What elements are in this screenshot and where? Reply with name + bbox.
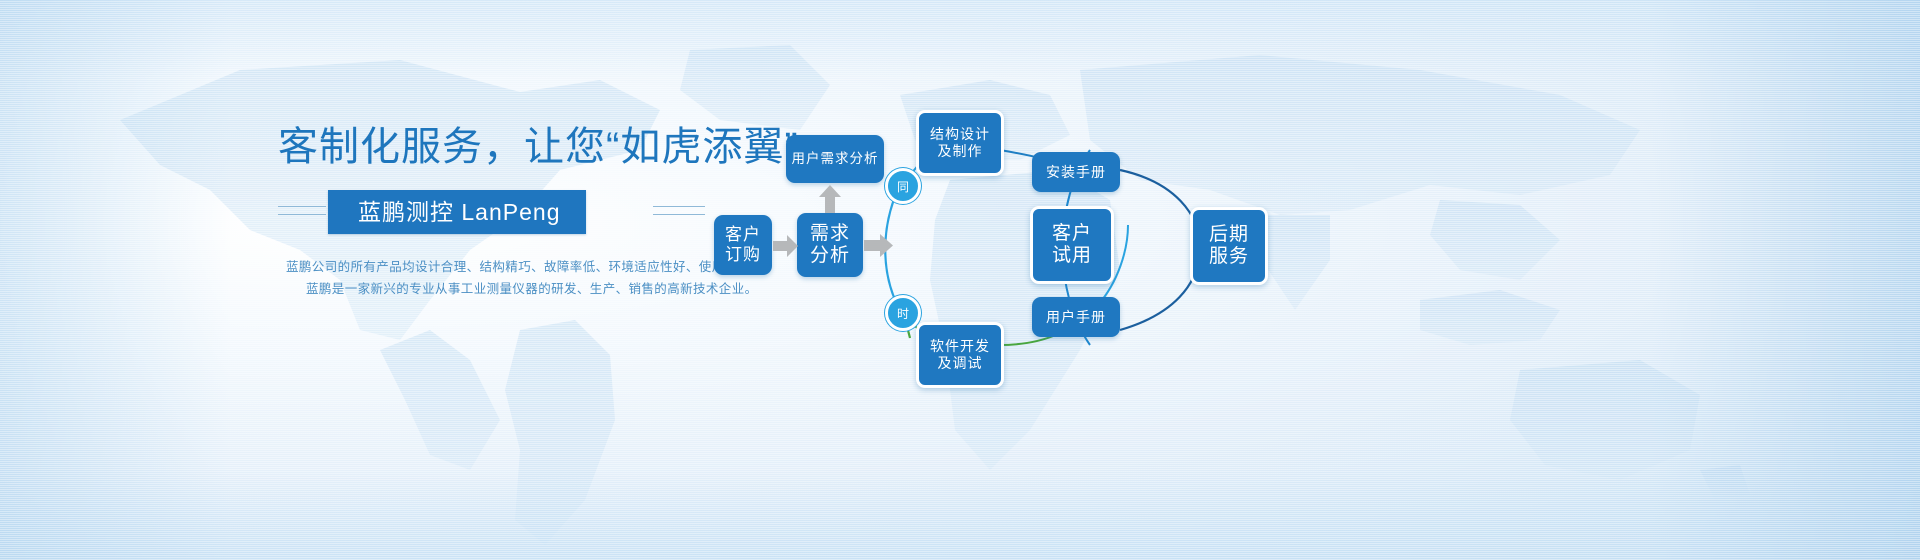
flow-node-software-dev[interactable]: 软件开发 及调试 [916, 322, 1004, 388]
badge-label: 时 [897, 305, 909, 322]
arrow-order-to-analysis [773, 233, 799, 259]
flow-node-label: 用户需求分析 [792, 151, 879, 167]
banner-stage: 客制化服务，让您“如虎添翼” 蓝鹏测控 LanPeng 蓝鹏公司的所有产品均设计… [0, 0, 1920, 560]
badge-tong: 同 [885, 168, 921, 204]
flow-node-label: 结构设计 及制作 [930, 126, 990, 159]
badge-shi: 时 [885, 295, 921, 331]
flow-node-label: 客户 订购 [725, 225, 761, 265]
flow-node-label: 软件开发 及调试 [930, 338, 990, 371]
arrow-analysis-to-cycle [864, 232, 894, 259]
flow-node-demand-analysis[interactable]: 需求 分析 [797, 213, 863, 277]
flow-node-user-demand-analysis[interactable]: 用户需求分析 [786, 135, 884, 183]
flow-node-customer-order[interactable]: 客户 订购 [714, 215, 772, 275]
flow-node-user-manual[interactable]: 用户手册 [1032, 297, 1120, 337]
flow-diagram: 用户需求分析 客户 订购 需求 分析 结构设计 及制作 软件开发 及调试 安装手… [0, 0, 1920, 560]
arrow-analysis-to-user-demand [817, 184, 843, 214]
flow-node-label: 后期 服务 [1209, 224, 1249, 269]
flow-node-install-manual[interactable]: 安装手册 [1032, 152, 1120, 192]
flow-node-label: 安装手册 [1046, 164, 1106, 181]
flow-node-customer-trial[interactable]: 客户 试用 [1030, 206, 1114, 284]
flow-node-label: 客户 试用 [1052, 223, 1092, 268]
flow-node-after-service[interactable]: 后期 服务 [1190, 207, 1268, 285]
flow-node-label: 用户手册 [1046, 309, 1106, 326]
flow-node-structure-design[interactable]: 结构设计 及制作 [916, 110, 1004, 176]
badge-label: 同 [897, 178, 909, 195]
flow-node-label: 需求 分析 [810, 223, 850, 268]
